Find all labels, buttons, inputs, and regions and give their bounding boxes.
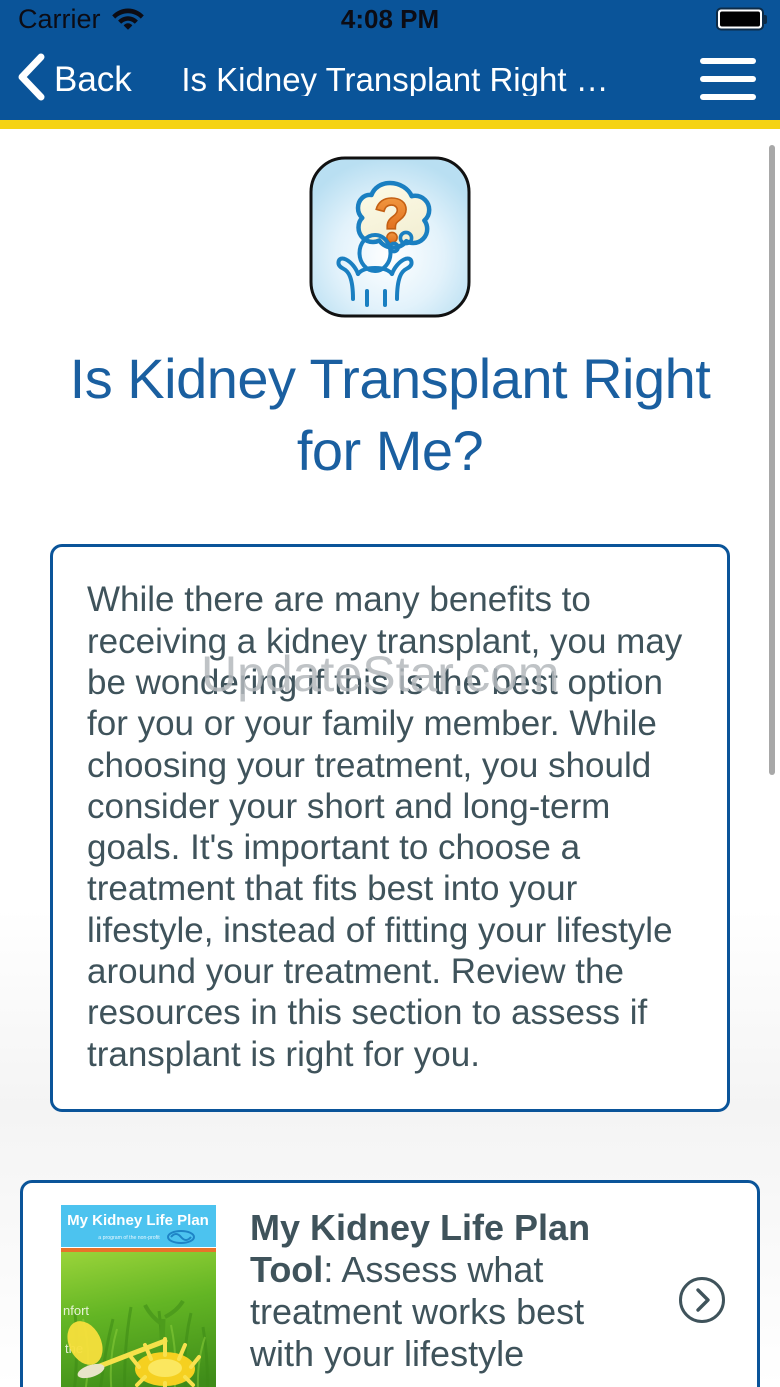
intro-description-card: While there are many benefits to receivi… <box>50 544 730 1112</box>
status-bar-right <box>716 8 764 31</box>
carrier-label: Carrier <box>18 6 101 33</box>
hamburger-menu-icon[interactable] <box>700 58 756 100</box>
svg-text:a program of the non-profit: a program of the non-profit <box>98 1235 160 1241</box>
back-button[interactable]: Back <box>16 52 132 107</box>
accent-strip <box>0 120 780 129</box>
wifi-icon <box>111 4 145 35</box>
status-bar: Carrier 4:08 PM <box>0 0 780 38</box>
resource-item-text: My Kidney Life Plan Tool: Assess what tr… <box>250 1207 643 1375</box>
scrollbar-thumb[interactable] <box>769 145 775 775</box>
resource-item-separator: : <box>323 1249 333 1290</box>
svg-text:nfort: nfort <box>63 1303 89 1318</box>
intro-description-text: While there are many benefits to receivi… <box>87 579 697 1075</box>
page-title: Is Kidney Transplant Right for Me? <box>0 343 780 486</box>
chevron-left-icon <box>16 52 46 107</box>
menu-line-1 <box>700 58 756 64</box>
back-button-label: Back <box>54 62 132 97</box>
menu-line-3 <box>700 94 756 100</box>
battery-fill <box>720 12 760 27</box>
status-bar-left: Carrier <box>18 4 145 35</box>
resource-item-body: My Kidney Life Plan Tool: Assess what tr… <box>250 1203 643 1375</box>
svg-text:My Kidney Life Plan: My Kidney Life Plan <box>67 1212 209 1229</box>
vertical-scrollbar[interactable] <box>769 145 775 775</box>
resource-list-item[interactable]: My Kidney Life Plan a program of the non… <box>20 1180 760 1387</box>
navigation-bar: Back Is Kidney Transplant Right … <box>0 38 780 120</box>
content-scroll-area[interactable]: Is Kidney Transplant Right for Me? While… <box>0 129 780 1387</box>
menu-line-2 <box>700 76 756 82</box>
my-kidney-life-plan-booklet-thumbnail: My Kidney Life Plan a program of the non… <box>61 1203 216 1387</box>
person-with-question-thought-bubble-icon <box>308 155 472 319</box>
battery-full-icon <box>716 8 764 31</box>
page-title-navbar: Is Kidney Transplant Right … <box>170 63 620 96</box>
chevron-right-circle-icon[interactable] <box>677 1275 727 1330</box>
app-screen: Carrier 4:08 PM Back <box>0 0 780 1387</box>
